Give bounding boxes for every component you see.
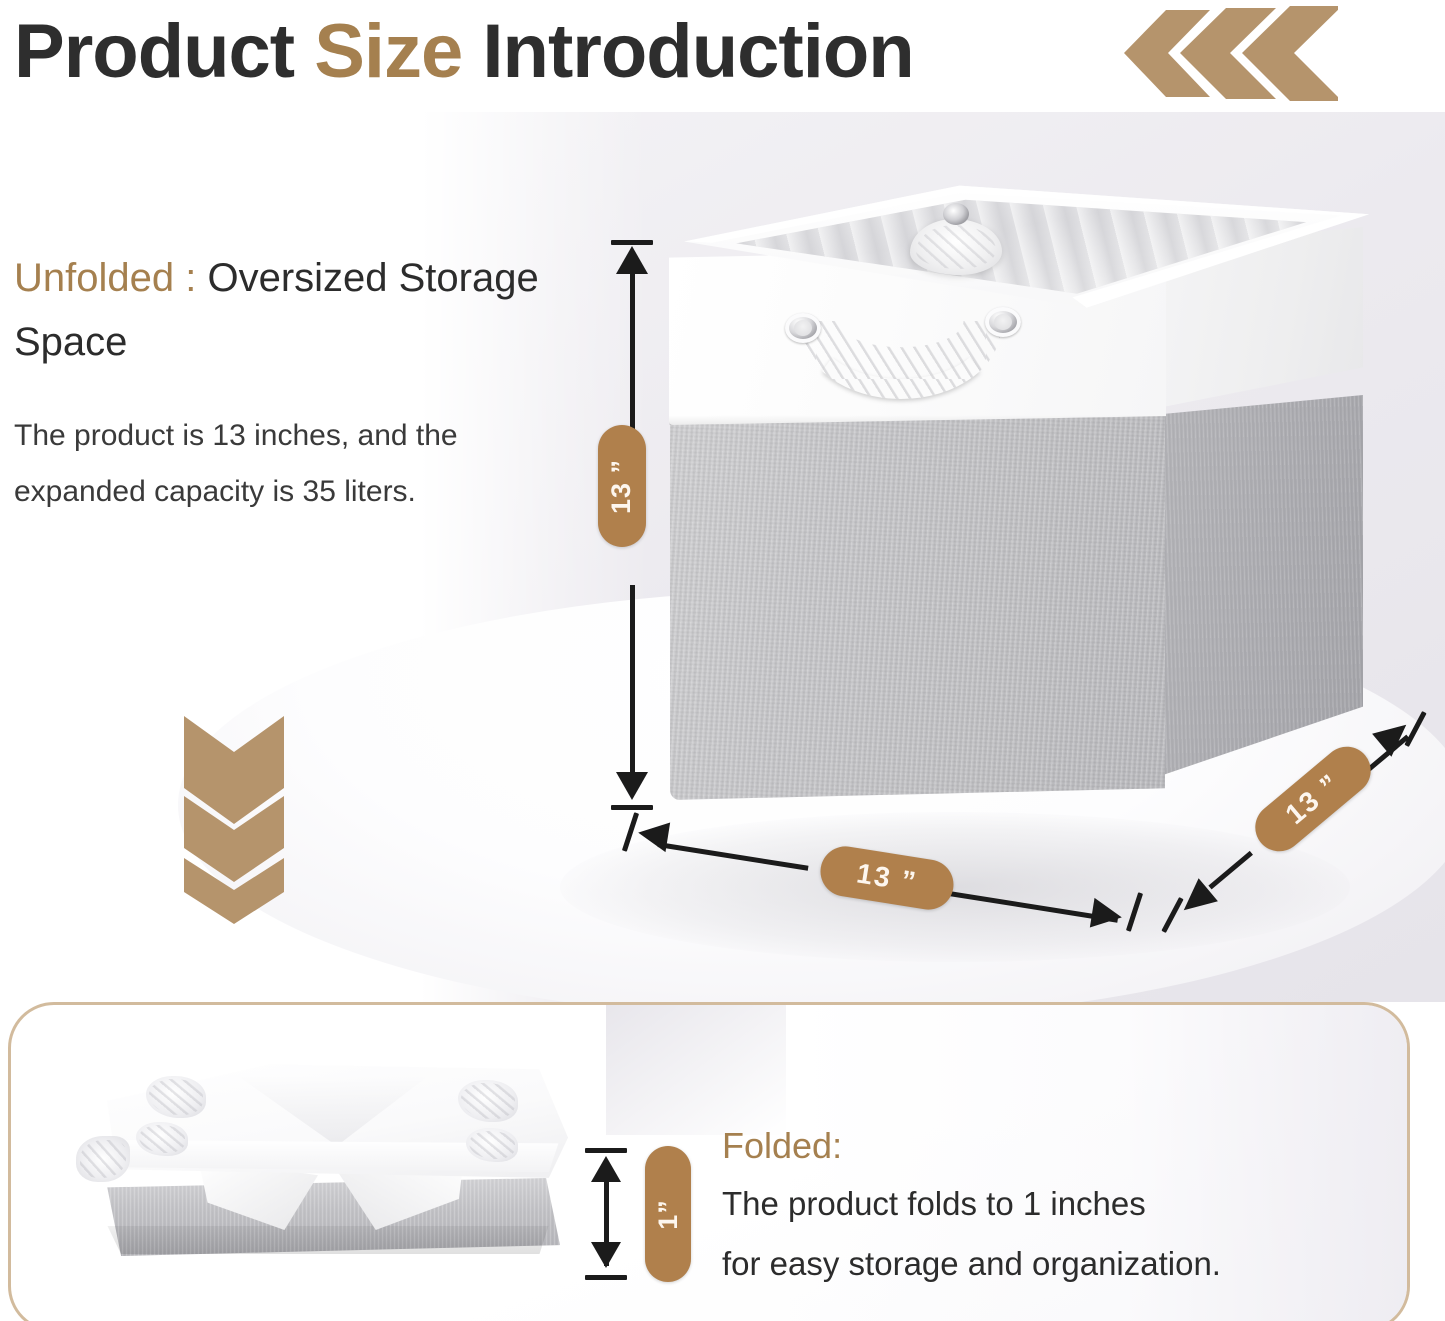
height-dimension-value: 13 ” — [607, 458, 638, 513]
folded-height-dimension-arrow — [580, 1148, 632, 1280]
folded-basket-image — [58, 1040, 588, 1290]
unfolded-copy-block: Unfolded : Oversized Storage Space The p… — [14, 246, 559, 520]
page-title: Product Size Introduction — [14, 2, 914, 102]
width-dimension-value: 13 ” — [854, 857, 919, 898]
page-title-part2: Introduction — [462, 9, 913, 94]
grommet-right-icon — [985, 307, 1021, 337]
height-dimension-label: 13 ” — [598, 425, 646, 547]
width-tick-right — [1126, 892, 1143, 932]
width-line-right — [930, 888, 1118, 923]
folded-tick-bottom — [585, 1275, 627, 1280]
header: Product Size Introduction — [0, 0, 1445, 108]
depth-line-lower — [1208, 851, 1253, 890]
folded-rope-handle-side — [76, 1136, 130, 1182]
unfolded-body-text: The product is 13 inches, and the expand… — [14, 408, 559, 520]
folded-body-line-1: The product folds to 1 inches — [722, 1176, 1382, 1232]
folded-copy-block: Folded: The product folds to 1 inches fo… — [722, 1120, 1382, 1292]
page-title-part1: Product — [14, 9, 314, 94]
grommet-left-icon — [785, 313, 821, 343]
folded-tick-top — [585, 1148, 627, 1153]
folded-dimension-value: 1” — [653, 1199, 684, 1230]
height-line-lower — [630, 585, 635, 780]
height-arrowhead-down-icon — [616, 772, 648, 800]
folded-body-line-2: for easy storage and organization. — [722, 1236, 1382, 1292]
unfolded-heading: Unfolded : Oversized Storage Space — [14, 246, 559, 374]
interior-grommet-icon — [943, 203, 969, 225]
width-line-left — [658, 842, 809, 871]
basket-gray-front-panel — [670, 410, 1165, 800]
infographic-page: Product Size Introduction — [0, 0, 1445, 1321]
folded-dimension-label: 1” — [645, 1146, 691, 1282]
page-title-accent: Size — [314, 9, 462, 94]
folded-panel-gradient-corner — [606, 1005, 786, 1135]
depth-tick-bottom — [1161, 897, 1183, 933]
chevron-left-triple-icon — [1118, 6, 1338, 101]
folded-arrowhead-down-icon — [591, 1242, 621, 1268]
folded-gray-shadow — [103, 1226, 553, 1254]
folded-heading: Folded: — [722, 1120, 1382, 1172]
chevron-down-triple-icon — [182, 712, 286, 924]
width-arrowhead-right-icon — [1090, 898, 1124, 932]
unfolded-heading-accent: Unfolded : — [14, 256, 196, 300]
height-tick-top — [611, 240, 653, 245]
